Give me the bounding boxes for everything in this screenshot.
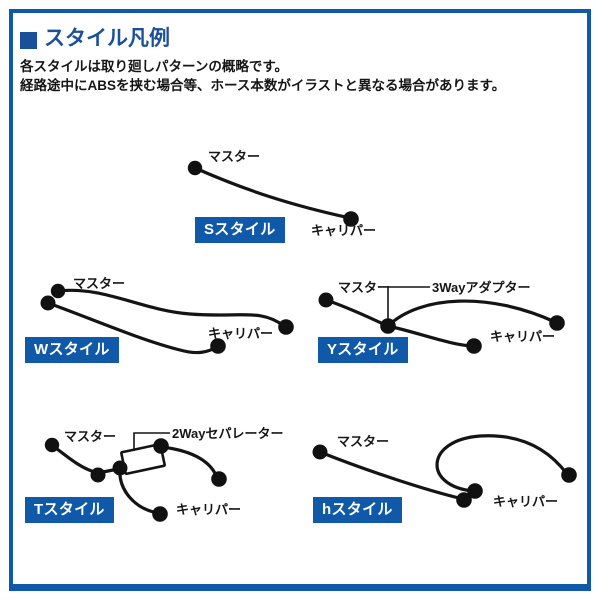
style-legend-page: スタイル凡例 各スタイルは取り廻しパターンの概略です。 経路途中にABSを挟む場… — [0, 0, 600, 600]
description-block: 各スタイルは取り廻しパターンの概略です。 経路途中にABSを挟む場合等、ホース本… — [20, 57, 580, 95]
description-line-1: 各スタイルは取り廻しパターンの概略です。 — [20, 57, 580, 76]
blue-frame-border — [9, 9, 591, 591]
header: スタイル凡例 各スタイルは取り廻しパターンの概略です。 経路途中にABSを挟む場… — [20, 28, 580, 95]
page-title-row: スタイル凡例 — [20, 28, 580, 50]
page-title: スタイル凡例 — [44, 28, 170, 50]
square-bullet-icon — [20, 32, 37, 49]
description-line-2: 経路途中にABSを挟む場合等、ホース本数がイラストと異なる場合があります。 — [20, 76, 580, 95]
